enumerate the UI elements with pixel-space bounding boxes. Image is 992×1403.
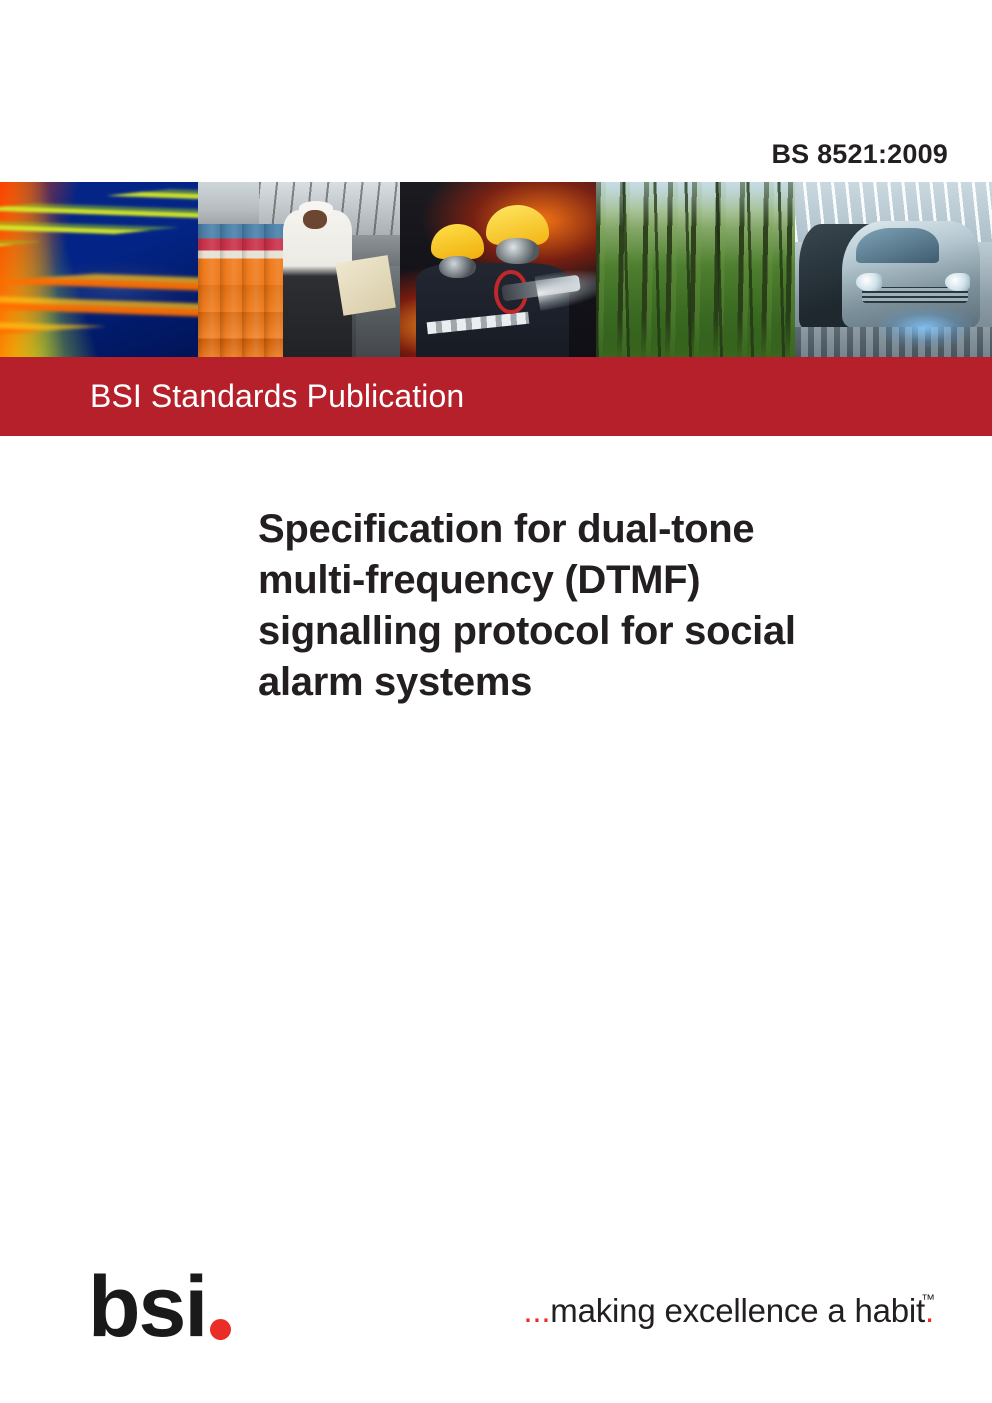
- photo-panel-automotive-production-line: [795, 182, 992, 357]
- cover-footer: bsi ...making excellence a habit.™: [0, 1243, 992, 1403]
- page-title-line-1: Specification for dual-tone: [258, 504, 878, 555]
- firefighter-mask-rear-detail: [439, 256, 476, 279]
- photo-panel-forest-timber: [596, 182, 795, 357]
- standard-number: BS 8521:2009: [771, 139, 948, 170]
- firefighter-mask-front-detail: [496, 238, 539, 264]
- page-title-line-3: signalling protocol for social: [258, 606, 878, 657]
- assembly-car-headlight-left-detail: [856, 273, 882, 291]
- photo-panel-warehouse-logistics-worker: [198, 182, 400, 357]
- cover-photo-strip: [0, 182, 992, 357]
- warehouse-crate-stack-detail: [198, 224, 291, 357]
- assembly-car-headlight-right-detail: [945, 273, 971, 291]
- page-title: Specification for dual-tone multi-freque…: [258, 504, 878, 708]
- page-title-line-4: alarm systems: [258, 657, 878, 708]
- photo-panel-night-traffic-light-trails: [0, 182, 198, 357]
- assembly-car-windshield-detail: [856, 228, 939, 263]
- tagline-text: making excellence a habit: [550, 1292, 925, 1330]
- tagline-leading-dots: ...: [523, 1292, 550, 1330]
- assembly-floor-glow-detail: [878, 308, 973, 347]
- page-title-line-2: multi-frequency (DTMF): [258, 555, 878, 606]
- firefighter-helmet-rear-detail: [431, 224, 484, 259]
- bsi-tagline: ...making excellence a habit.™: [523, 1292, 948, 1330]
- publisher-band: BSI Standards Publication: [0, 357, 992, 436]
- document-cover-page: BS 8521:2009: [0, 0, 992, 1403]
- bsi-logo-wordmark: bsi: [88, 1272, 206, 1343]
- bsi-logo-dot-icon: [210, 1319, 231, 1340]
- bsi-logo: bsi: [88, 1272, 231, 1343]
- warehouse-parcel-detail: [336, 255, 396, 315]
- publisher-band-label: BSI Standards Publication: [90, 377, 464, 414]
- photo-panel-firefighters-hose: [400, 182, 596, 357]
- warehouse-worker-head-detail: [303, 210, 327, 229]
- trademark-icon: ™: [921, 1291, 935, 1307]
